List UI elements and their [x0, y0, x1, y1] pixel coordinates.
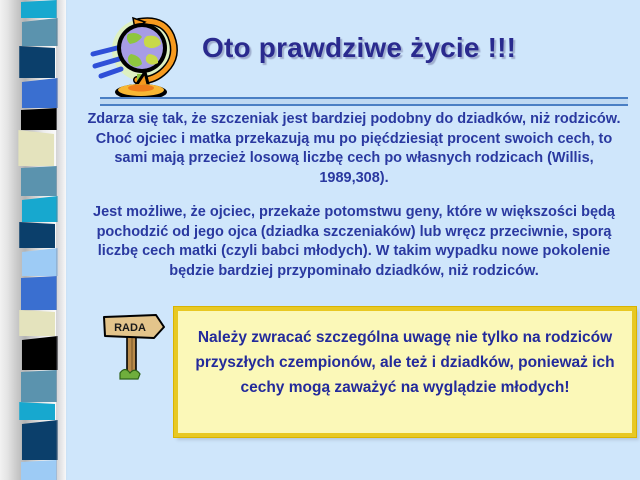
advice-text: Należy zwracać szczególna uwagę nie tylk… [178, 325, 632, 400]
presentation-slide: Oto prawdziwe życie !!! Zdarza się tak, … [0, 0, 640, 480]
ribbon-segment [22, 420, 58, 460]
ribbon-segment [22, 18, 58, 46]
ribbon-segment [21, 0, 57, 18]
ribbon-segment [22, 248, 58, 276]
ribbon-segment [22, 78, 58, 108]
ribbon-segment [21, 370, 57, 402]
ribbon-segment [18, 130, 54, 166]
sidebar-decorative-band [0, 0, 66, 480]
ribbon-segment [19, 46, 55, 78]
decorative-ribbon [20, 0, 56, 480]
ribbon-segment [21, 108, 57, 130]
body-paragraph-2: Jest możliwe, że ojciec, przekaże potoms… [84, 203, 624, 281]
page-title: Oto prawdziwe życie !!! [202, 32, 632, 64]
signpost-icon: RADA [94, 303, 172, 381]
signpost-label: RADA [114, 322, 146, 334]
ribbon-segment [22, 196, 58, 222]
body-paragraph-1: Zdarza się tak, że szczeniak jest bardzi… [84, 110, 624, 188]
ribbon-segment [19, 402, 55, 420]
ribbon-segment [22, 336, 58, 370]
ribbon-segment [19, 310, 55, 336]
slide-content: Oto prawdziwe życie !!! Zdarza się tak, … [66, 0, 640, 480]
ribbon-segment [21, 460, 57, 480]
advice-callout-box: Należy zwracać szczególna uwagę nie tylk… [174, 307, 636, 437]
title-divider [100, 97, 628, 106]
slide-header: Oto prawdziwe życie !!! [66, 6, 640, 98]
ribbon-segment [21, 276, 57, 310]
globe-icon [85, 10, 195, 102]
ribbon-segment [21, 166, 57, 196]
ribbon-segment [19, 222, 55, 248]
